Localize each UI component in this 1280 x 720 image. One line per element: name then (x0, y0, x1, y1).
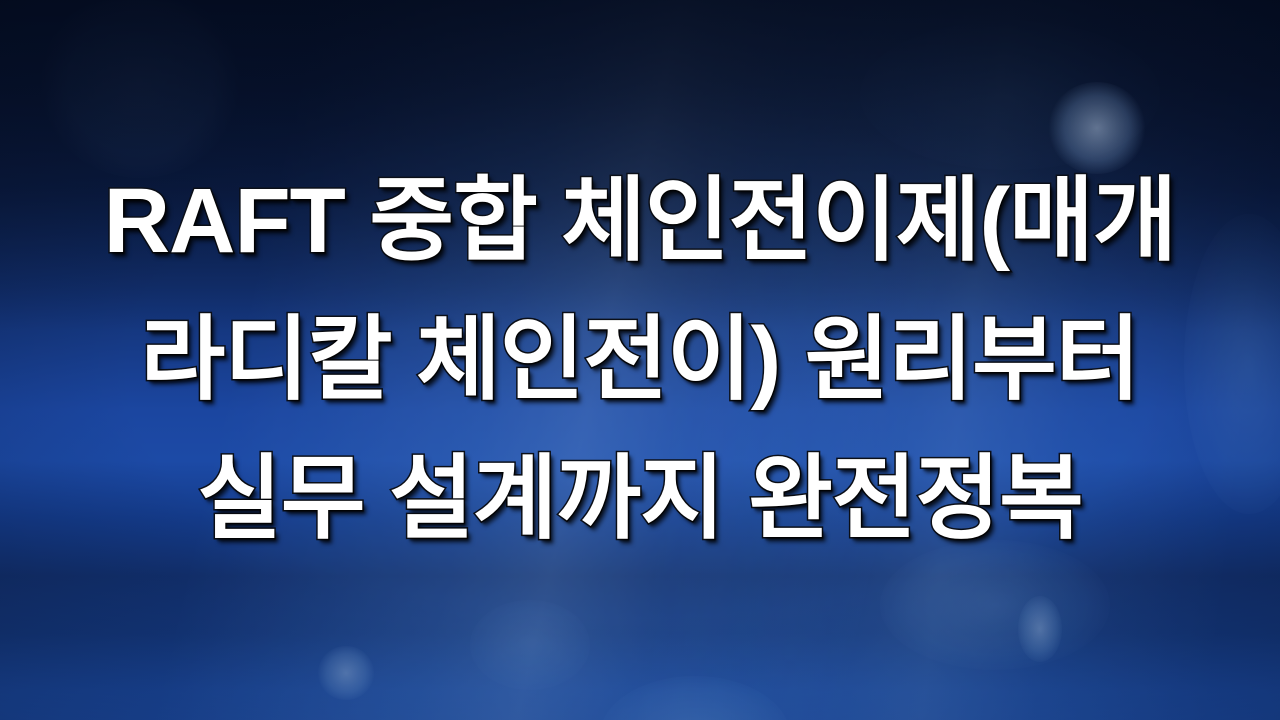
title-line-2: 라디칼 체인전이) 원리부터 (0, 291, 1280, 430)
title-card: RAFT 중합 체인전이제(매개 라디칼 체인전이) 원리부터 실무 설계까지 … (0, 0, 1280, 720)
title-text-block: RAFT 중합 체인전이제(매개 라디칼 체인전이) 원리부터 실무 설계까지 … (0, 152, 1280, 569)
title-line-3: 실무 설계까지 완전정복 (0, 430, 1280, 569)
title-line-1: RAFT 중합 체인전이제(매개 (0, 152, 1280, 291)
